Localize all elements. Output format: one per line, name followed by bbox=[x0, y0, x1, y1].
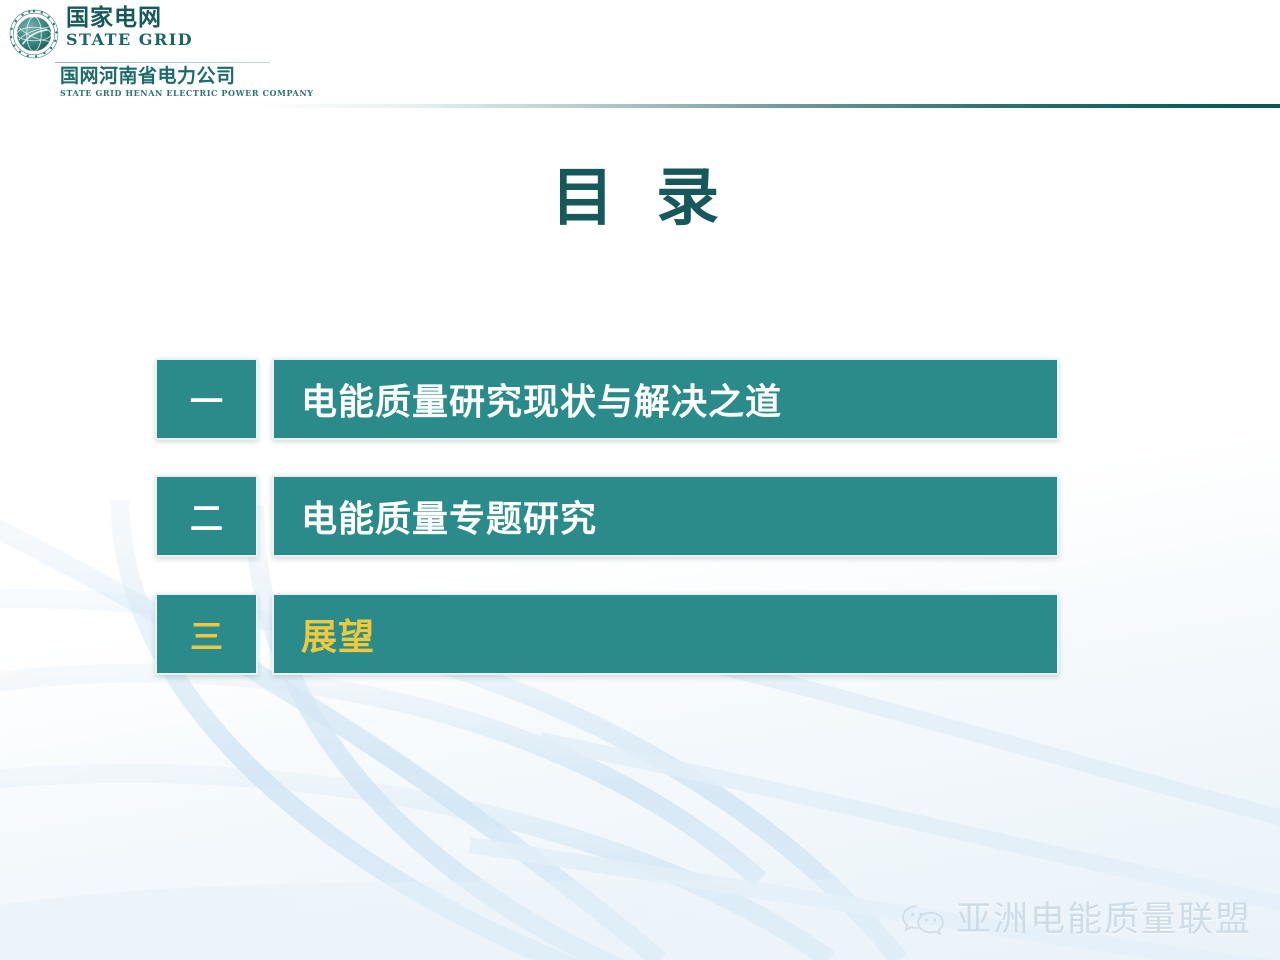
toc-item-1[interactable]: 一 电能质量研究现状与解决之道 bbox=[155, 358, 1059, 440]
wechat-icon bbox=[901, 902, 945, 938]
watermark-text: 亚洲电能质量联盟 bbox=[956, 903, 1252, 938]
slide: 国家电网 STATE GRID 国网河南省电力公司 STATE GRID HEN… bbox=[0, 0, 1280, 960]
toc-number-badge-1[interactable]: 一 bbox=[155, 358, 258, 440]
toc-number-badge-3[interactable]: 三 bbox=[155, 593, 258, 675]
toc-number-badge-2[interactable]: 二 bbox=[155, 475, 258, 557]
footer-watermark: 亚洲电能质量联盟 bbox=[901, 902, 1252, 938]
toc-label-bar-1[interactable]: 电能质量研究现状与解决之道 bbox=[272, 358, 1059, 440]
toc-label-bar-2[interactable]: 电能质量专题研究 bbox=[272, 475, 1059, 557]
toc-item-2[interactable]: 二 电能质量专题研究 bbox=[155, 475, 1059, 557]
table-of-contents: 一 电能质量研究现状与解决之道 二 电能质量专题研究 三 展望 bbox=[0, 0, 1280, 960]
toc-label-bar-3[interactable]: 展望 bbox=[272, 593, 1059, 675]
toc-item-3[interactable]: 三 展望 bbox=[155, 593, 1059, 675]
